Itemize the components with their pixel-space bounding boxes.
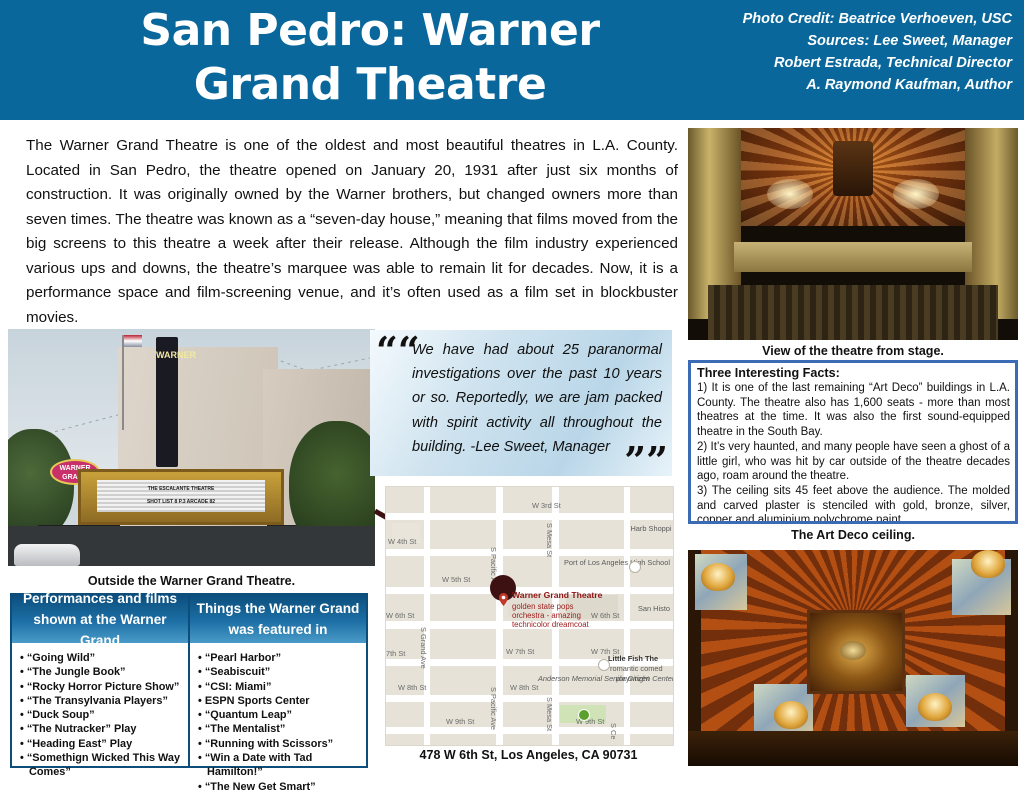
list-item: “Somethign Wicked This Way Comes” <box>20 751 188 780</box>
parked-car <box>14 544 80 566</box>
list-item: “The New Get Smart” <box>198 780 366 794</box>
poster-canvas: San Pedro: Warner Grand Theatre Photo Cr… <box>0 0 1024 768</box>
fact-item-2: 2) It’s very haunted, and many people ha… <box>697 440 1010 484</box>
map-street-s-mesa-top: S Mesa St <box>545 523 554 557</box>
credit-sources: Sources: Lee Sweet, Manager <box>682 30 1012 52</box>
blade-sign-text: WARNER <box>156 337 178 361</box>
page-title-line-2: Grand Theatre <box>60 58 680 112</box>
map-street-s-ce: S Ce <box>609 723 618 739</box>
photo-theatre-from-stage <box>688 128 1018 340</box>
caption-outside-theatre: Outside the Warner Grand Theatre. <box>8 574 375 588</box>
list-item: “The Jungle Book” <box>20 665 188 679</box>
balcony-row <box>734 242 972 272</box>
page-title: San Pedro: Warner Grand Theatre <box>60 4 680 112</box>
seating-rows <box>708 285 998 340</box>
ceiling-lamp-bottomright <box>918 693 952 721</box>
marquee-sign: THE ESCALANTE THEATRE SHOT LIST 8 P.3 AR… <box>78 469 284 525</box>
credit-author: A. Raymond Kaufman, Author <box>682 74 1012 96</box>
credit-technical-director: Robert Estrada, Technical Director <box>682 52 1012 74</box>
caption-art-deco-ceiling: The Art Deco ceiling. <box>688 528 1018 542</box>
list-item: “Running with Scissors” <box>198 737 366 751</box>
ceiling-lamp-bottomleft <box>774 701 808 729</box>
map-pin-title-text: Warner Grand Theatre <box>512 590 602 600</box>
list-item: “Going Wild” <box>20 651 188 665</box>
map-street-7th: 7th St <box>386 649 405 658</box>
map-street-w5th: W 5th St <box>442 575 470 584</box>
table-list-featured-in: “Pearl Harbor” “Seabiscuit” “CSI: Miami”… <box>190 643 366 794</box>
house-light-right <box>893 179 939 209</box>
list-item: “Pearl Harbor” <box>198 651 366 665</box>
list-item: “The Nutracker” Play <box>20 722 188 736</box>
ceiling-lamp-topright <box>971 550 1005 578</box>
fact-item-3: 3) The ceiling sits 45 feet above the au… <box>697 484 1010 524</box>
map-street-s-grand: S Grand Ave <box>419 627 428 669</box>
caption-map-address: 478 W 6th St, Los Angeles, CA 90731 <box>385 748 672 762</box>
photo-art-deco-ceiling <box>688 550 1018 766</box>
quote-close-icon: ”” <box>624 442 668 476</box>
map-street-w8th-left: W 8th St <box>398 683 426 692</box>
list-item: “Seabiscuit” <box>198 665 366 679</box>
intro-paragraph: The Warner Grand Theatre is one of the o… <box>26 134 678 330</box>
map-pin-sub-3: technicolor dreamcoat <box>512 620 589 629</box>
map-poi-anderson-center: Anderson Memorial Senior Citizen Center <box>538 675 628 684</box>
list-item: ESPN Sports Center <box>198 694 366 708</box>
photo-outside-theatre: WARNER WARNER GRAND THE ESCALANTE THEATR… <box>8 329 375 566</box>
map-street-w4th: W 4th St <box>388 537 416 546</box>
ceiling-lamp-topleft <box>701 563 735 591</box>
marquee-line-1: THE ESCALANTE THEATRE <box>97 480 265 493</box>
credits-block: Photo Credit: Beatrice Verhoeven, USC So… <box>682 8 1012 96</box>
map-poi-dot-park <box>578 709 590 721</box>
map-pin-sub-2: orchestra - amazing <box>512 611 581 620</box>
list-item: “The Mentalist” <box>198 722 366 736</box>
list-item: “Rocky Horror Picture Show” <box>20 680 188 694</box>
map-poi-romantic-comedy: romantic comed <box>610 665 674 674</box>
table-column-performances: Performances and films shown at the Warn… <box>12 595 190 766</box>
map-poi-harbor-shopping: Harb Shoppi <box>630 525 672 534</box>
map-canvas[interactable]: W 3rd St W 4th St W 5th St W 6th St W 6t… <box>385 486 674 746</box>
list-item: “CSI: Miami” <box>198 680 366 694</box>
table-column-featured-in: Things the Warner Grand was featured in … <box>190 595 366 766</box>
map-marker-icon[interactable] <box>499 593 508 606</box>
caption-theatre-from-stage: View of the theatre from stage. <box>688 344 1018 358</box>
tree-left <box>8 429 74 539</box>
house-light-left <box>767 179 813 209</box>
ceiling-cornice-band <box>688 731 1018 766</box>
map-pin-sub-1: golden state pops <box>512 602 574 611</box>
table-list-performances: “Going Wild” “The Jungle Book” “Rocky Ho… <box>12 643 188 780</box>
map-street-w8th-mid: W 8th St <box>510 683 538 692</box>
map-street-w3rd: W 3rd St <box>532 501 561 510</box>
map-street-s-mesa-bottom: S Mesa St <box>545 697 554 731</box>
page-title-line-1: San Pedro: Warner <box>60 4 680 58</box>
list-item: “Win a Date with Tad Hamilton!” <box>198 751 366 780</box>
map-street-w6th-right: W 6th St <box>591 611 619 620</box>
table-header-featured-in: Things the Warner Grand was featured in <box>190 595 366 643</box>
map-poi-little-fish-theatre: Little Fish The <box>608 655 674 664</box>
location-map[interactable]: W 3rd St W 4th St W 5th St W 6th St W 6t… <box>385 486 672 744</box>
map-poi-san-historical: San Histo <box>636 605 672 614</box>
map-poi-port-high-school: Port of Los Angeles High School <box>564 559 626 568</box>
map-poi-dot-theatre <box>598 659 610 671</box>
marquee-board: THE ESCALANTE THEATRE SHOT LIST 8 P.3 AR… <box>97 480 265 512</box>
marquee-line-2: SHOT LIST 8 P.3 ARCADE 82 <box>97 493 265 506</box>
map-pin-title: Warner Grand Theatre <box>512 591 602 600</box>
chandelier-fixture <box>833 141 873 196</box>
list-item: “Duck Soup” <box>20 708 188 722</box>
films-and-features-table: Performances and films shown at the Warn… <box>10 593 368 768</box>
poster-header: San Pedro: Warner Grand Theatre Photo Cr… <box>0 0 1024 120</box>
list-item: “Quantum Leap” <box>198 708 366 722</box>
list-item: “The Transylvania Players” <box>20 694 188 708</box>
flag-pole <box>122 335 124 430</box>
map-street-w9th-left: W 9th St <box>446 717 474 726</box>
facts-heading: Three Interesting Facts: <box>697 366 1010 381</box>
list-item: “Heading East” Play <box>20 737 188 751</box>
vertical-blade-sign: WARNER <box>156 337 178 467</box>
map-street-s-pacific-bottom: S Pacific Ave <box>489 687 498 730</box>
table-header-performances: Performances and films shown at the Warn… <box>12 595 188 643</box>
fact-item-1: 1) It is one of the last remaining “Art … <box>697 381 1010 440</box>
map-street-w7th-mid: W 7th St <box>506 647 534 656</box>
us-flag-icon <box>124 335 142 347</box>
map-poi-dot-school <box>629 561 641 573</box>
map-street-w6th-left: W 6th St <box>386 611 414 620</box>
credit-photo: Photo Credit: Beatrice Verhoeven, USC <box>682 8 1012 30</box>
three-interesting-facts-box: Three Interesting Facts: 1) It is one of… <box>688 360 1018 524</box>
pull-quote-box: ““ We have had about 25 paranormal inves… <box>370 330 672 476</box>
